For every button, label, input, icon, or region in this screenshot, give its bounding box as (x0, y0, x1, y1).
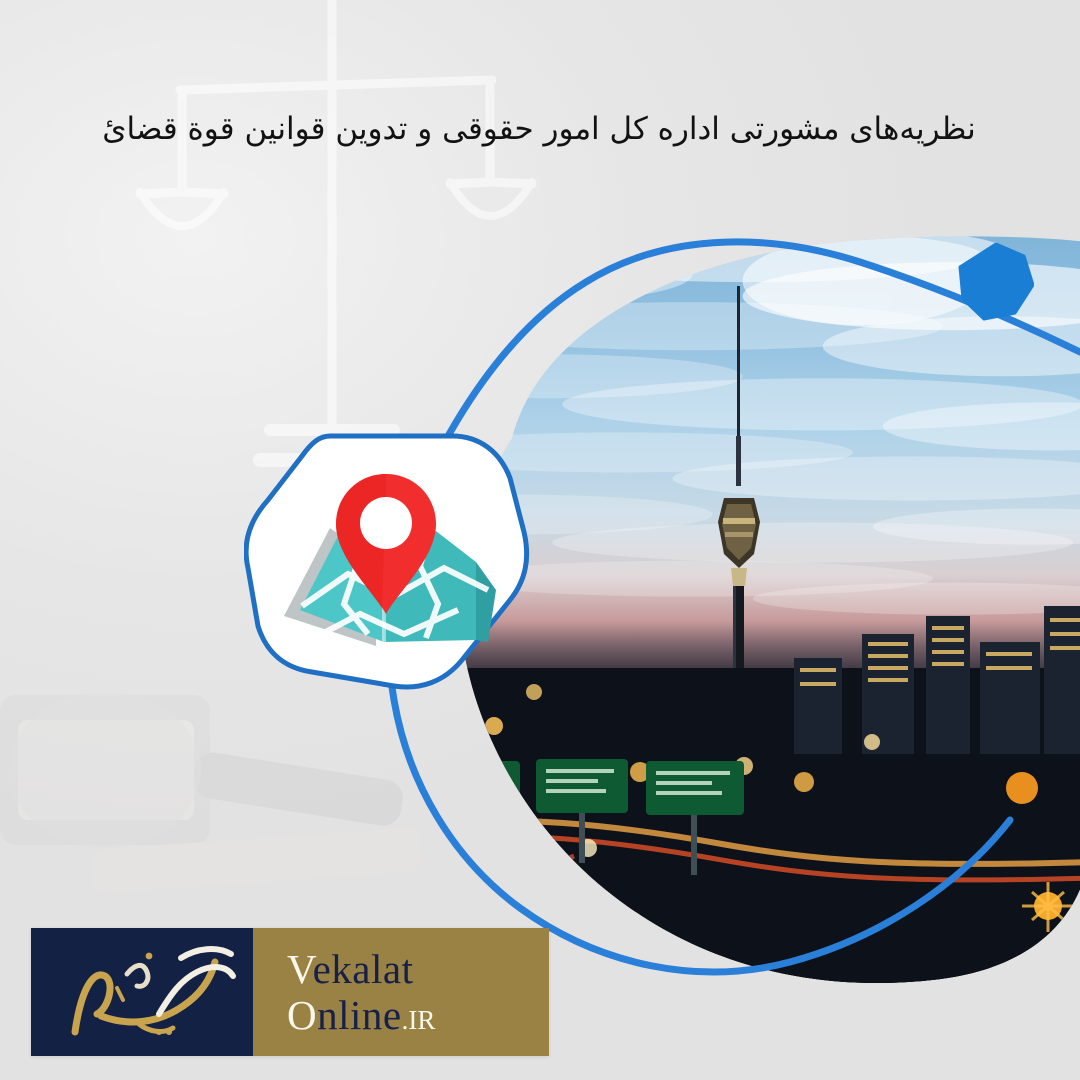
brand-initial-v: V (287, 946, 313, 992)
brand-line-1: ekalat (313, 946, 414, 992)
brand-tld: .IR (402, 1005, 436, 1035)
persian-calligraphy-logo (31, 928, 253, 1056)
page-title: نظریه‌های مشورتی اداره کل امور حقوقی و ت… (0, 106, 1080, 152)
blue-heptagon (958, 243, 1034, 321)
map-location-badge[interactable] (244, 428, 532, 696)
logo-calligraphy-panel (31, 928, 253, 1056)
brand-line-2: nline (317, 992, 401, 1038)
poster-canvas: نظریه‌های مشورتی اداره کل امور حقوقی و ت… (0, 0, 1080, 1080)
site-logo[interactable]: Vekalat Online.IR (31, 928, 549, 1056)
brand-initial-o: O (287, 992, 317, 1038)
logo-brand-panel: Vekalat Online.IR (253, 928, 549, 1056)
